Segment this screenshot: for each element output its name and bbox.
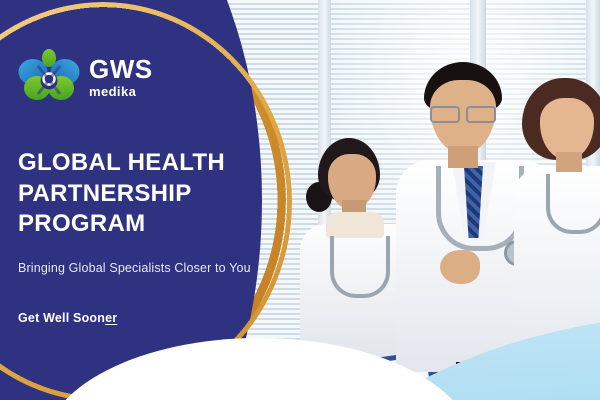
subtitle: Bringing Global Specialists Closer to Yo… xyxy=(18,261,280,275)
gesturing-hand xyxy=(440,250,480,284)
collar xyxy=(326,212,384,238)
headline-line-3: PROGRAM xyxy=(18,209,268,240)
stethoscope-icon xyxy=(546,174,600,234)
brand-logo: GWS medika xyxy=(18,48,153,104)
tagline-accent: er xyxy=(105,311,117,325)
gws-molecule-logo-icon xyxy=(18,48,80,104)
brand-sub-name: medika xyxy=(89,85,153,98)
neck xyxy=(448,146,478,168)
stethoscope-icon xyxy=(436,166,524,251)
brand-name: GWS xyxy=(89,56,153,82)
page-title: GLOBAL HEALTH PARTNERSHIP PROGRAM xyxy=(18,148,268,240)
neck xyxy=(556,152,582,172)
promotional-banner: GWS medika GLOBAL HEALTH PARTNERSHIP PRO… xyxy=(0,0,600,400)
eyeglasses-icon xyxy=(428,106,498,119)
tagline: Get Well Sooner xyxy=(18,311,117,325)
headline-line-1: GLOBAL HEALTH xyxy=(18,148,268,179)
tagline-lead: Get Well Soon xyxy=(18,311,105,325)
headline-line-2: PARTNERSHIP xyxy=(18,179,268,210)
stethoscope-icon xyxy=(330,236,390,298)
brand-wordmark: GWS medika xyxy=(89,54,153,98)
